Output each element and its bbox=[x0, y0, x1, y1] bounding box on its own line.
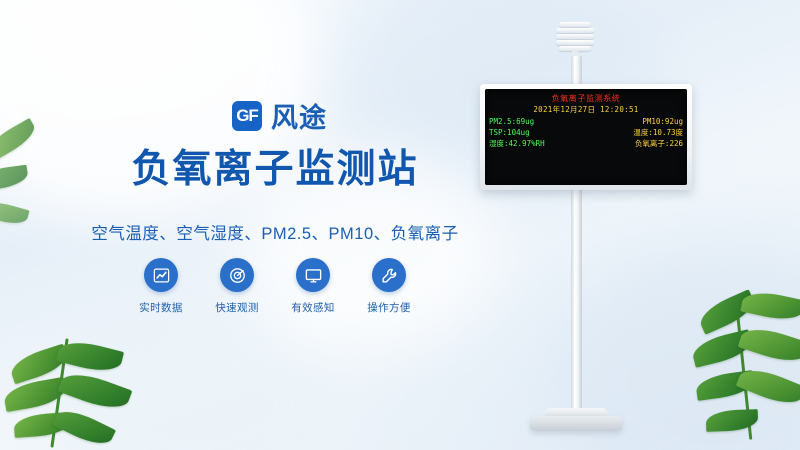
company-logo-icon: GF bbox=[232, 101, 262, 131]
display-title: 负氧离子监测系统 bbox=[485, 93, 687, 104]
plant-mid-left bbox=[0, 120, 90, 240]
feature-label: 有效感知 bbox=[282, 300, 344, 315]
wrench-icon bbox=[372, 258, 406, 292]
reading-value: 负氧离子:226 bbox=[635, 138, 683, 149]
plant-bottom-right bbox=[690, 290, 800, 450]
reading-value: TSP:104ug bbox=[489, 127, 530, 138]
display-readings: PM2.5:69ug PM10:92ug TSP:104ug 温度:10.73度… bbox=[489, 116, 683, 149]
feature-label: 实时数据 bbox=[130, 300, 192, 315]
brand-lockup: GF 风途 bbox=[232, 96, 327, 135]
feature-list: 实时数据 快速观测 有效感知 bbox=[130, 258, 420, 315]
page-subtitle: 空气温度、空气湿度、PM2.5、PM10、负氧离子 bbox=[60, 220, 490, 244]
feature-item: 实时数据 bbox=[130, 258, 192, 315]
reading-row: 湿度:42.97%RH 负氧离子:226 bbox=[489, 138, 683, 149]
reading-value: 湿度:42.97%RH bbox=[489, 138, 545, 149]
monitor-icon bbox=[296, 258, 330, 292]
feature-item: 操作方便 bbox=[358, 258, 420, 315]
radar-target-icon bbox=[220, 258, 254, 292]
brand-name: 风途 bbox=[271, 96, 327, 135]
page-title: 负氧离子监测站 bbox=[80, 138, 470, 194]
reading-value: PM2.5:69ug bbox=[489, 116, 534, 127]
feature-label: 操作方便 bbox=[358, 300, 420, 315]
chart-line-icon bbox=[144, 258, 178, 292]
pole-base bbox=[530, 416, 622, 431]
feature-label: 快速观测 bbox=[206, 300, 268, 315]
poster-image: GF 风途 负氧离子监测站 空气温度、空气湿度、PM2.5、PM10、负氧离子 … bbox=[0, 0, 800, 450]
led-display-panel: 负氧离子监测系统 2021年12月27日 12:20:51 PM2.5:69ug… bbox=[480, 84, 692, 190]
display-timestamp: 2021年12月27日 12:20:51 bbox=[485, 104, 687, 115]
reading-value: PM10:92ug bbox=[642, 116, 683, 127]
led-display-screen: 负氧离子监测系统 2021年12月27日 12:20:51 PM2.5:69ug… bbox=[485, 89, 687, 185]
reading-row: TSP:104ug 温度:10.73度 bbox=[489, 127, 683, 138]
feature-item: 快速观测 bbox=[206, 258, 268, 315]
reading-value: 温度:10.73度 bbox=[633, 127, 683, 138]
feature-item: 有效感知 bbox=[282, 258, 344, 315]
reading-row: PM2.5:69ug PM10:92ug bbox=[489, 116, 683, 127]
plant-bottom-left bbox=[0, 320, 180, 450]
